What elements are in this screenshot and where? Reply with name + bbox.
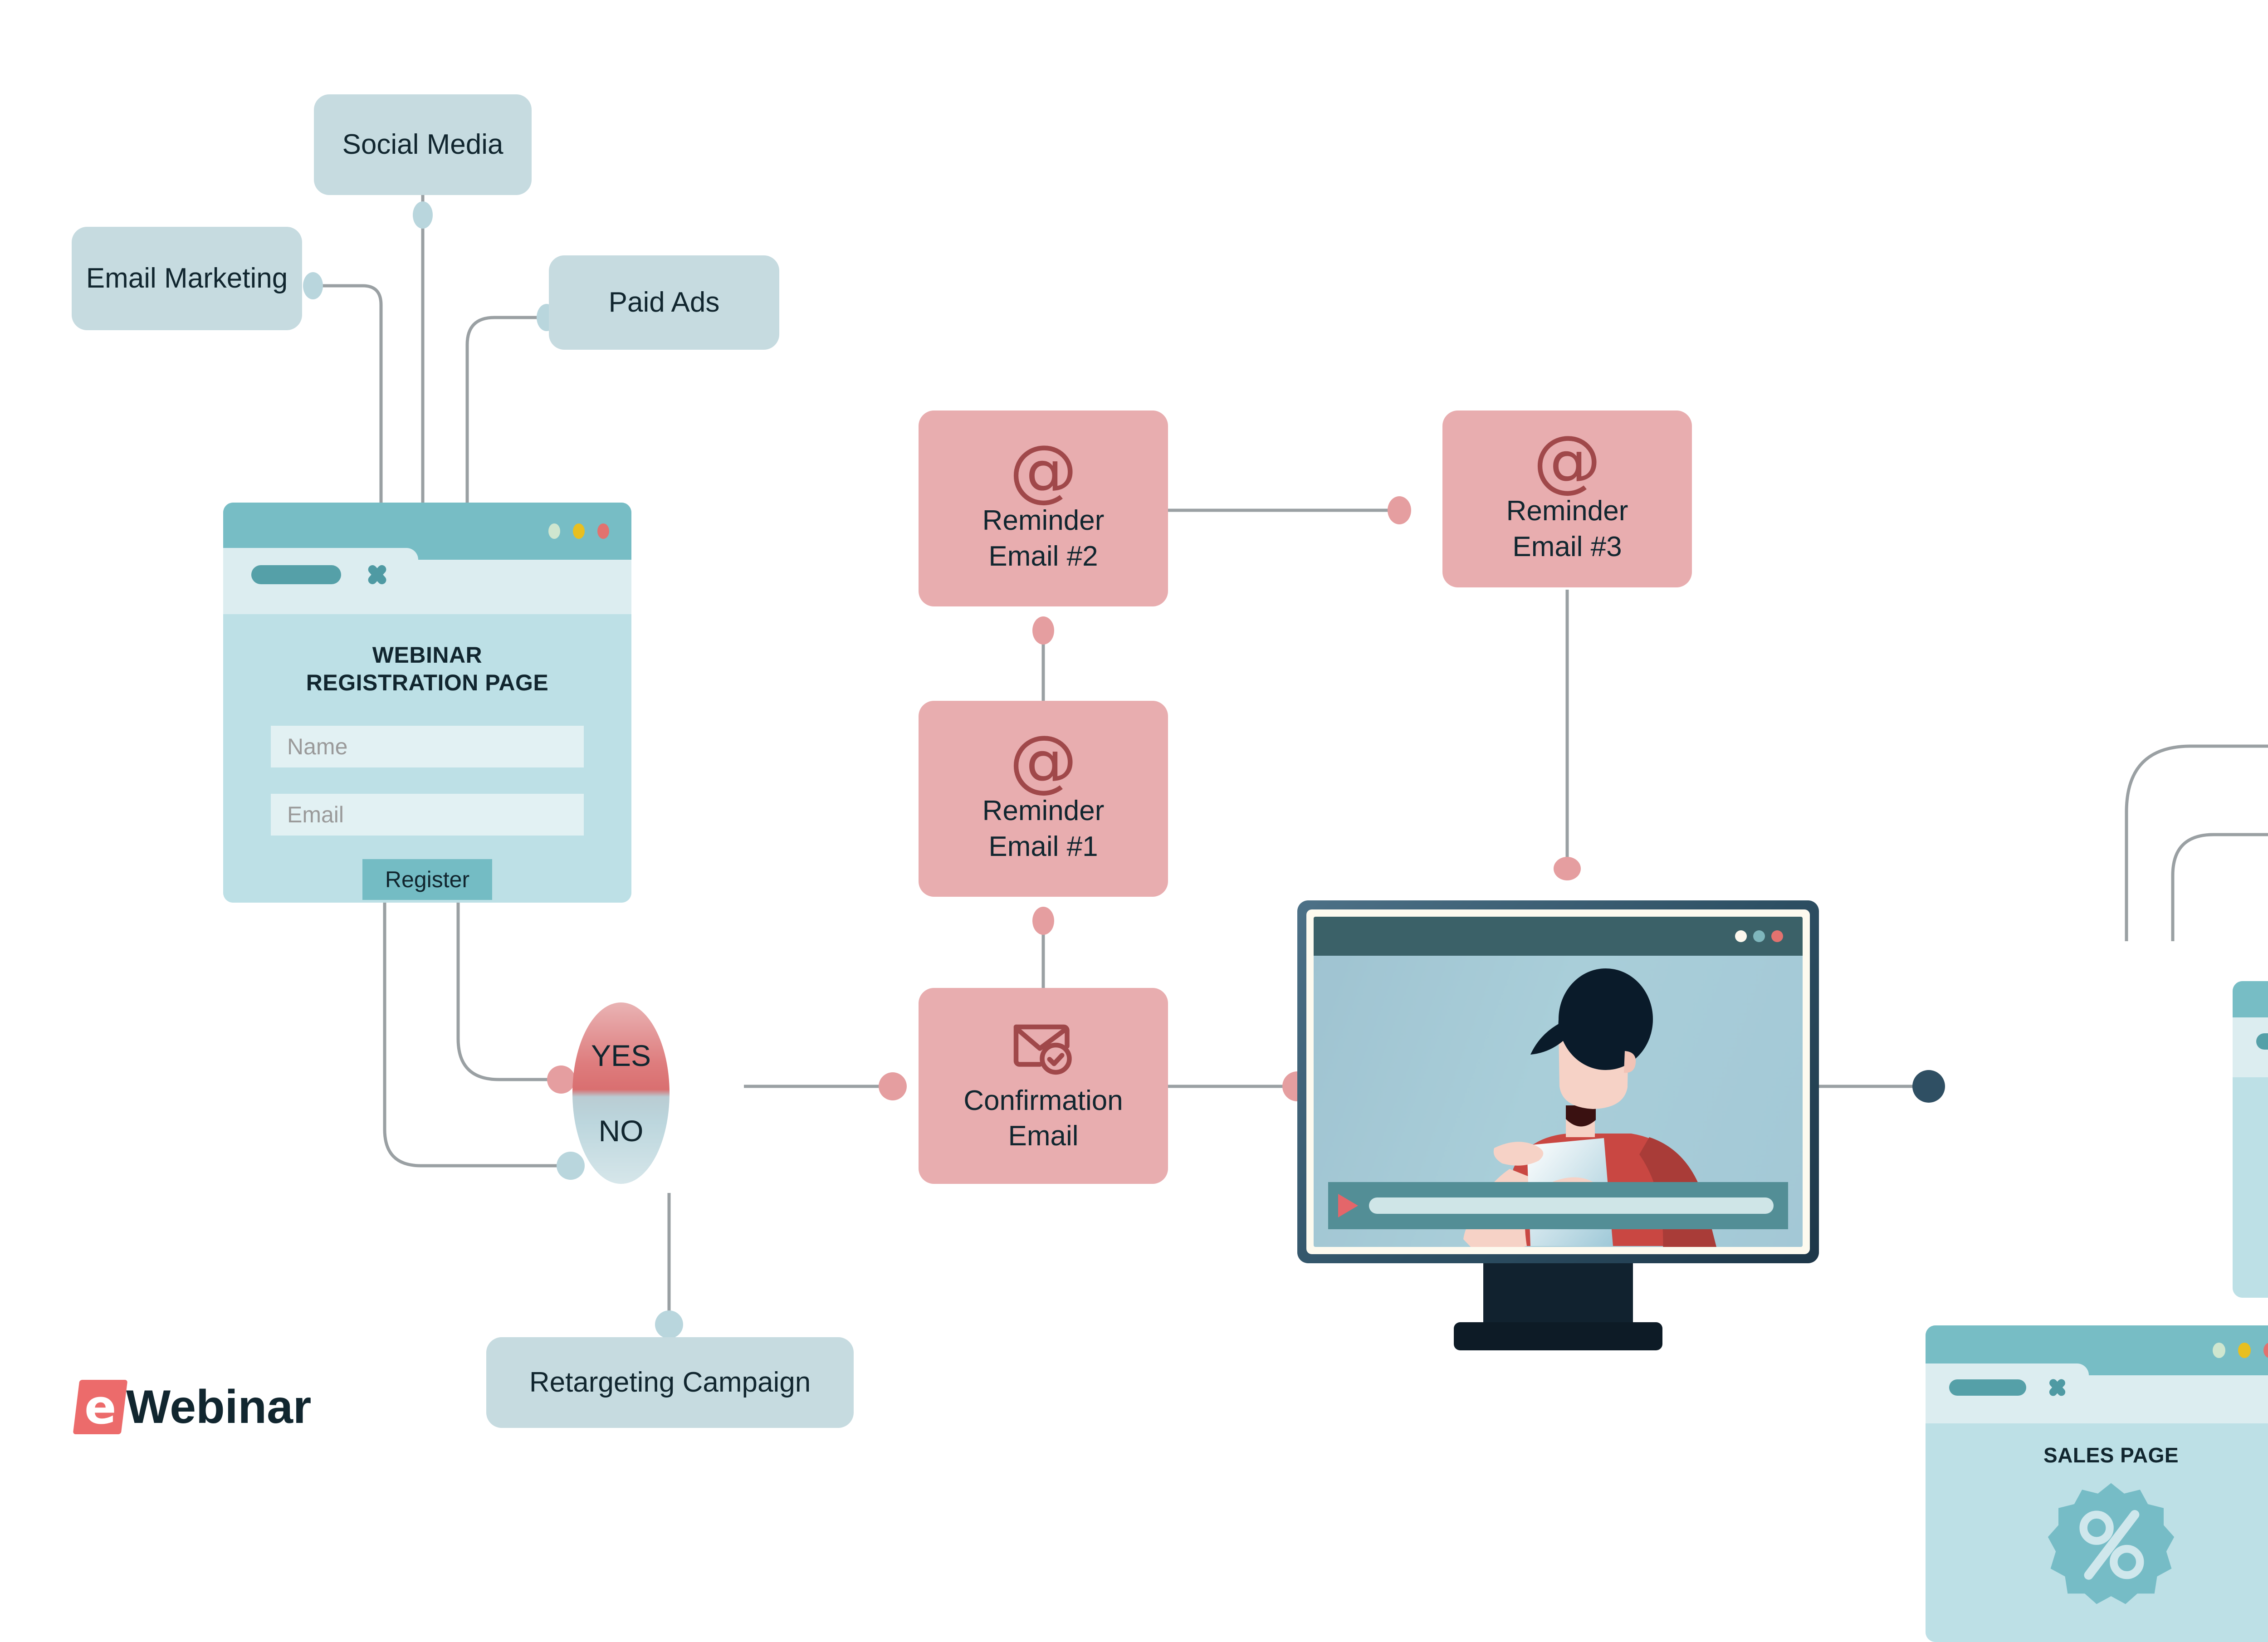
- flowchart-canvas: Social Media Email Marketing Paid Ads WE…: [0, 0, 2268, 1512]
- sales-page-window[interactable]: SALES PAGE: [1926, 1325, 2268, 1642]
- webinar-player-monitor[interactable]: [1297, 900, 1819, 1354]
- reminder-email-3-box[interactable]: @ Reminder Email #3: [1442, 410, 1692, 587]
- retargeting-campaign-box[interactable]: Retargeting Campaign: [486, 1337, 854, 1428]
- source-label-paid-ads: Paid Ads: [609, 285, 720, 320]
- at-sign-icon: @: [1009, 733, 1077, 789]
- wire-salespage-to-yes2: [2126, 746, 2268, 941]
- reminder-email-3-line2: Email #3: [1512, 529, 1622, 565]
- logo-mark: e: [73, 1380, 128, 1434]
- reminder-email-2-line2: Email #2: [988, 539, 1098, 574]
- retargeting-label: Retargeting Campaign: [529, 1365, 811, 1400]
- browser-tab[interactable]: [223, 548, 418, 601]
- window-dot-yellow[interactable]: [573, 523, 585, 539]
- reminder-email-1-line1: Reminder: [982, 793, 1105, 829]
- close-icon[interactable]: [2044, 1375, 2070, 1400]
- page-title: WEBINAR REGISTRATION PAGE: [306, 641, 548, 697]
- tab-title-pill: [251, 565, 341, 584]
- reminder-email-1-line2: Email #1: [988, 829, 1098, 865]
- ewebinar-logo[interactable]: e Webinar: [76, 1380, 311, 1434]
- dot-yes1-in: [547, 1065, 575, 1094]
- wire-emailmkt-to-registration: [313, 286, 381, 509]
- reminder-email-3-line1: Reminder: [1506, 494, 1628, 529]
- email-input[interactable]: Email: [271, 794, 584, 836]
- dot-salespage-in: [1912, 1070, 1945, 1103]
- monitor-bezel: [1306, 909, 1810, 1254]
- dot-reminder3-in: [1388, 496, 1411, 524]
- dot-confirmation-in: [879, 1072, 907, 1100]
- player-dot-white[interactable]: [1735, 930, 1747, 942]
- close-icon[interactable]: [363, 560, 392, 589]
- browser-tab[interactable]: [1926, 1363, 2089, 1412]
- sales-page-body: SALES PAGE: [1926, 1423, 2268, 1642]
- seek-bar[interactable]: [1369, 1197, 1773, 1214]
- confirmation-email-line1: Confirmation: [963, 1083, 1123, 1119]
- logo-wordmark: Webinar: [126, 1380, 311, 1434]
- reminder-email-1-box[interactable]: @ Reminder Email #1: [919, 701, 1168, 897]
- player-dot-teal[interactable]: [1753, 930, 1765, 942]
- reminder-email-2-box[interactable]: @ Reminder Email #2: [919, 410, 1168, 606]
- player-controls[interactable]: [1328, 1182, 1788, 1229]
- player-dot-red[interactable]: [1771, 930, 1783, 942]
- percent-badge-icon: [2045, 1478, 2177, 1612]
- monitor-frame: [1297, 900, 1819, 1263]
- play-icon[interactable]: [1338, 1194, 1358, 1217]
- dot-social-media: [413, 201, 433, 229]
- source-label-social-media: Social Media: [342, 127, 503, 162]
- confirmation-email-box[interactable]: Confirmation Email: [919, 988, 1168, 1184]
- name-input[interactable]: Name: [271, 726, 584, 767]
- browser-titlebar: [2233, 981, 2268, 1026]
- envelope-check-icon: [1009, 1018, 1077, 1077]
- dot-retargeting-in: [655, 1310, 683, 1339]
- window-controls: [548, 523, 609, 539]
- browser-titlebar: [223, 503, 631, 560]
- dot-reminder2-in: [1032, 616, 1054, 645]
- reminder-email-2-line1: Reminder: [982, 503, 1105, 538]
- browser-titlebar: [1926, 1325, 2268, 1375]
- dot-webinar-in: [1554, 857, 1581, 880]
- window-dot-green[interactable]: [548, 523, 560, 539]
- at-sign-icon: @: [1009, 443, 1077, 498]
- webinar-registration-page-window[interactable]: WEBINAR REGISTRATION PAGE Name Email Reg…: [223, 503, 631, 903]
- player-window-controls: [1735, 930, 1783, 942]
- decision-one-yes: YES: [591, 1038, 651, 1073]
- monitor-neck: [1483, 1263, 1633, 1322]
- window-controls: [2213, 1343, 2268, 1358]
- monitor-base: [1454, 1322, 1662, 1350]
- checkout-signup-page-window[interactable]: CHECKOUT OR SIGNUP PAGE: [2233, 981, 2268, 1298]
- video-area[interactable]: [1314, 956, 1803, 1247]
- at-sign-icon: @: [1533, 433, 1601, 489]
- tab-title-pill: [2256, 1033, 2268, 1050]
- registration-page-body: WEBINAR REGISTRATION PAGE Name Email Reg…: [223, 614, 631, 903]
- source-label-email-marketing: Email Marketing: [86, 261, 288, 296]
- tab-title-pill: [1949, 1379, 2026, 1396]
- wire-paidads-to-registration: [467, 318, 547, 509]
- window-dot-green[interactable]: [2213, 1343, 2225, 1358]
- wire-registration-to-no1: [385, 903, 567, 1166]
- source-box-social-media[interactable]: Social Media: [314, 94, 532, 195]
- register-button[interactable]: Register: [362, 859, 492, 900]
- page-title: SALES PAGE: [2043, 1442, 2179, 1468]
- window-dot-yellow[interactable]: [2238, 1343, 2251, 1358]
- source-box-email-marketing[interactable]: Email Marketing: [72, 227, 302, 330]
- window-dot-red[interactable]: [597, 523, 609, 539]
- source-box-paid-ads[interactable]: Paid Ads: [549, 255, 779, 350]
- dot-reminder1-in: [1032, 907, 1054, 935]
- wire-salespage-to-no2: [2173, 835, 2268, 941]
- dot-email-marketing: [303, 272, 323, 299]
- decision-registered[interactable]: YES NO: [572, 1002, 670, 1184]
- decision-one-no: NO: [599, 1114, 644, 1148]
- confirmation-email-line2: Email: [1008, 1119, 1078, 1154]
- monitor-screen: [1314, 917, 1803, 1247]
- browser-tab[interactable]: [2233, 1017, 2268, 1065]
- window-dot-red[interactable]: [2263, 1343, 2268, 1358]
- wire-registration-to-yes1: [458, 903, 558, 1080]
- checkout-page-body: CHECKOUT OR SIGNUP PAGE: [2233, 1077, 2268, 1298]
- dot-no1-in: [557, 1152, 585, 1180]
- player-titlebar: [1314, 917, 1803, 956]
